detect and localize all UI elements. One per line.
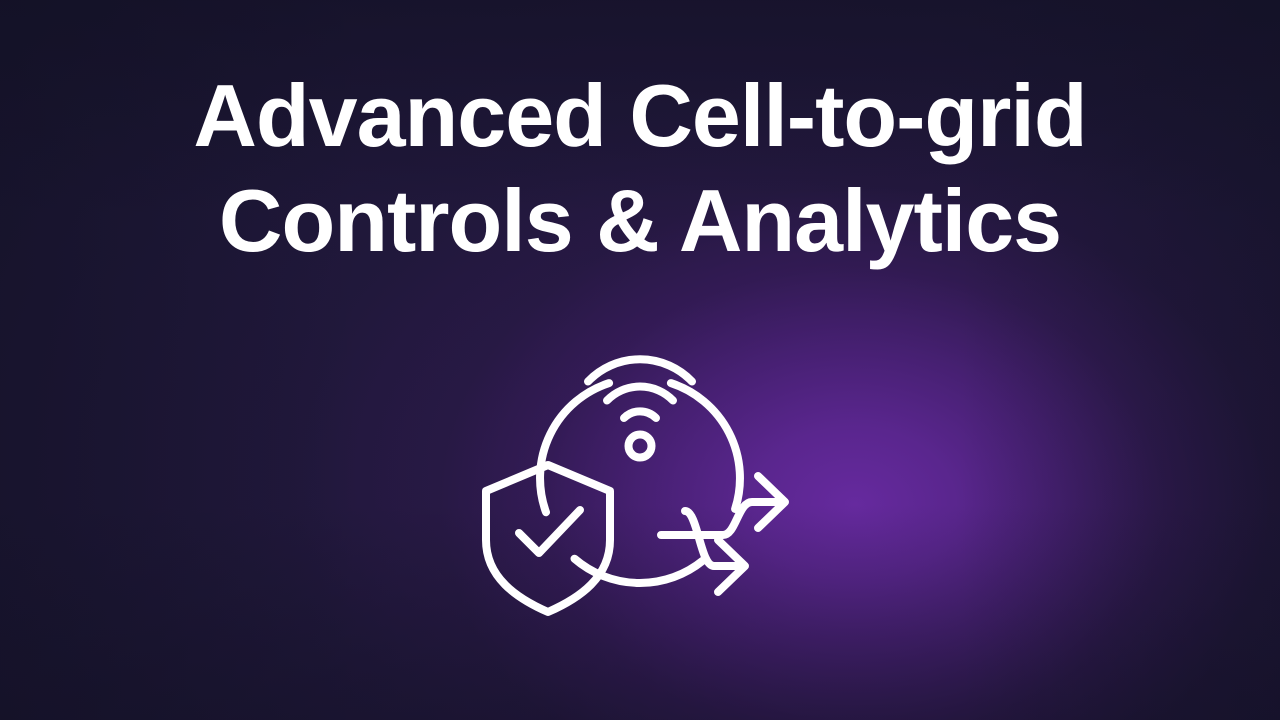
circle-arc-right [671, 383, 740, 509]
check-icon [519, 510, 580, 553]
page-title: Advanced Cell-to-grid Controls & Analyti… [0, 63, 1280, 273]
wireless-signal-icon [588, 359, 692, 457]
slide-canvas: Advanced Cell-to-grid Controls & Analyti… [0, 0, 1280, 720]
title-line-2: Controls & Analytics [60, 168, 1220, 273]
connected-secure-routing-icon [440, 330, 840, 620]
title-line-1: Advanced Cell-to-grid [60, 63, 1220, 168]
wifi-arc-inner [624, 411, 656, 418]
circle-arc-left [540, 383, 609, 512]
wifi-dot-icon [629, 435, 652, 458]
wifi-arc-middle [607, 387, 673, 401]
wifi-arc-outer [588, 359, 692, 381]
shield-check-icon [486, 465, 610, 612]
